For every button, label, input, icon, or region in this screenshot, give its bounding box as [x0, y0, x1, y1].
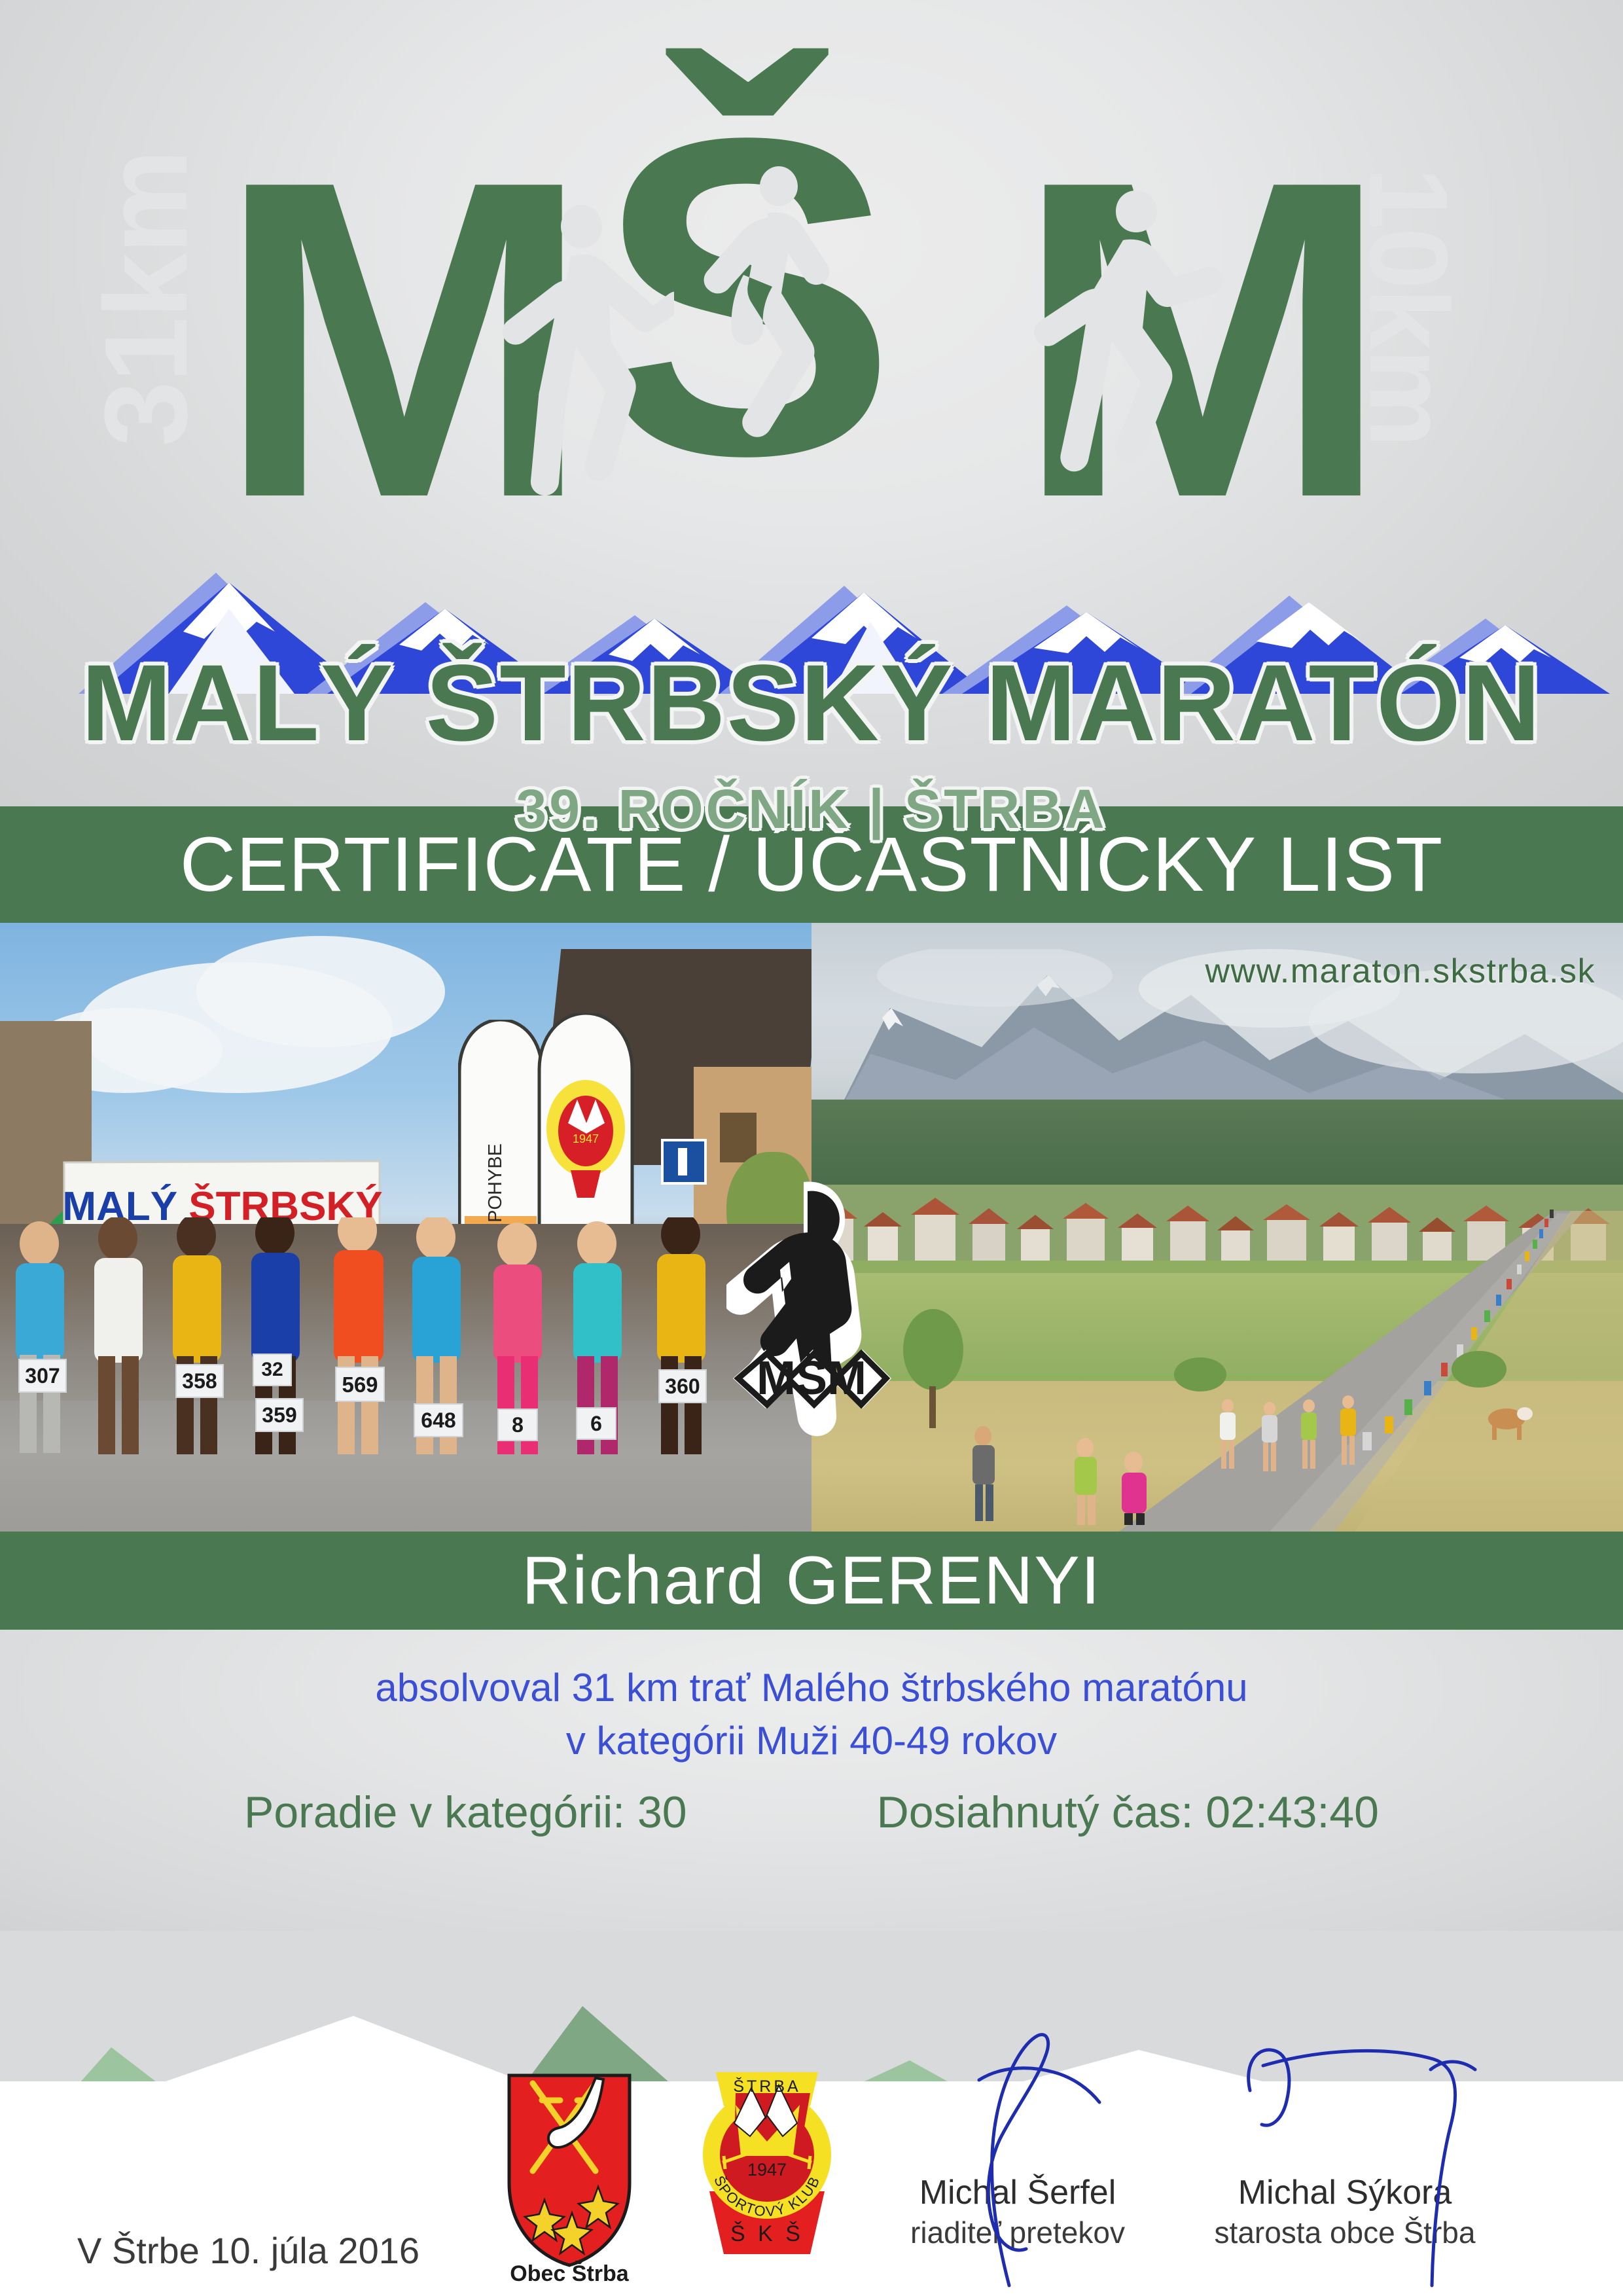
photo-race-course: www.maraton.skstrba.sk	[811, 923, 1623, 1532]
sks-top-text: ŠTRBA	[733, 2077, 800, 2096]
description-line-2: v kategórii Muži 40-49 rokov	[0, 1714, 1623, 1767]
wordmark-secondary: 39. ROČNÍK | ŠTRBA	[0, 778, 1623, 841]
runner-stream	[811, 1198, 1623, 1525]
runner-bib: 307	[18, 1359, 67, 1393]
svg-text:1947: 1947	[573, 1132, 599, 1145]
signature-block-mayor: Michal Sýkora starosta obce Štrba	[1191, 2173, 1499, 2250]
signature-role: riaditeľ pretekov	[864, 2215, 1171, 2250]
runner-bib: 648	[414, 1403, 463, 1437]
runner-bib: 359	[255, 1398, 304, 1432]
runner-bib: 6	[576, 1407, 616, 1440]
issue-date: V Štrbe 10. júla 2016	[77, 2229, 419, 2272]
signature-role: starosta obce Štrba	[1191, 2215, 1499, 2250]
result-values: Poradie v kategórii: 30 Dosiahnutý čas: …	[0, 1787, 1623, 1838]
result-body: absolvoval 31 km trať Malého štrbského m…	[0, 1630, 1623, 1931]
wordmark-primary: MALÝ ŠTRBSKÝ MARATÓN	[0, 641, 1623, 766]
sks-bottom-text: Š K Š	[730, 2221, 804, 2246]
participant-description: absolvoval 31 km trať Malého štrbského m…	[0, 1661, 1623, 1767]
runner-bib: 8	[497, 1408, 538, 1441]
category-rank: Poradie v kategórii: 30	[244, 1787, 687, 1838]
event-logo: M Š M 31km 10km	[0, 26, 1623, 798]
logo-distance-31km: 31km	[79, 151, 214, 446]
runner-silhouette-left	[458, 193, 674, 560]
runner-bib: 358	[175, 1364, 224, 1398]
participant-name-bar: Richard GERENYI	[0, 1532, 1623, 1630]
description-line-1: absolvoval 31 km trať Malého štrbského m…	[0, 1661, 1623, 1714]
cloud-shape	[196, 936, 445, 1047]
signature-name: Michal Šerfel	[864, 2173, 1171, 2212]
runner-group	[0, 1217, 811, 1479]
signature-name: Michal Sýkora	[1191, 2173, 1499, 2212]
runner-silhouette-center	[681, 157, 870, 563]
signature-block-race-director: Michal Šerfel riaditeľ pretekov	[864, 2173, 1171, 2250]
finish-time: Dosiahnutý čas: 02:43:40	[877, 1787, 1379, 1838]
logo-distance-10km: 10km	[1344, 167, 1472, 446]
event-website-url[interactable]: www.maraton.skstrba.sk	[1205, 952, 1596, 991]
runner-bib: 32	[253, 1354, 292, 1386]
participant-name: Richard GERENYI	[522, 1542, 1101, 1620]
obec-strba-coat-of-arms	[504, 2072, 635, 2268]
building-window	[720, 1113, 757, 1162]
msm-emblem-text: MŠM	[757, 1352, 866, 1405]
sks-club-logo: ŠTRBA 1947 ŠPORTOVÝ KLUB Š K Š	[695, 2063, 839, 2259]
sks-year: 1947	[747, 2160, 787, 2179]
photo-race-start: TATRY V POHYBE 1947 MALÝ ŠTRBSKÝ	[0, 923, 811, 1532]
runner-bib: 569	[335, 1367, 385, 1402]
crosswalk-glyph	[678, 1148, 687, 1175]
coat-of-arms-label: Obec Štrba	[504, 2261, 635, 2287]
photo-strip: TATRY V POHYBE 1947 MALÝ ŠTRBSKÝ	[0, 923, 1623, 1532]
logo-wordmark: MALÝ ŠTRBSKÝ MARATÓN 39. ROČNÍK | ŠTRBA	[0, 641, 1623, 841]
runner-bib: 360	[658, 1369, 707, 1403]
certificate-page: M Š M 31km 10km	[0, 0, 1623, 2296]
msm-runner-emblem: MŠM	[726, 1178, 897, 1453]
runner-silhouette-right	[1008, 180, 1224, 560]
